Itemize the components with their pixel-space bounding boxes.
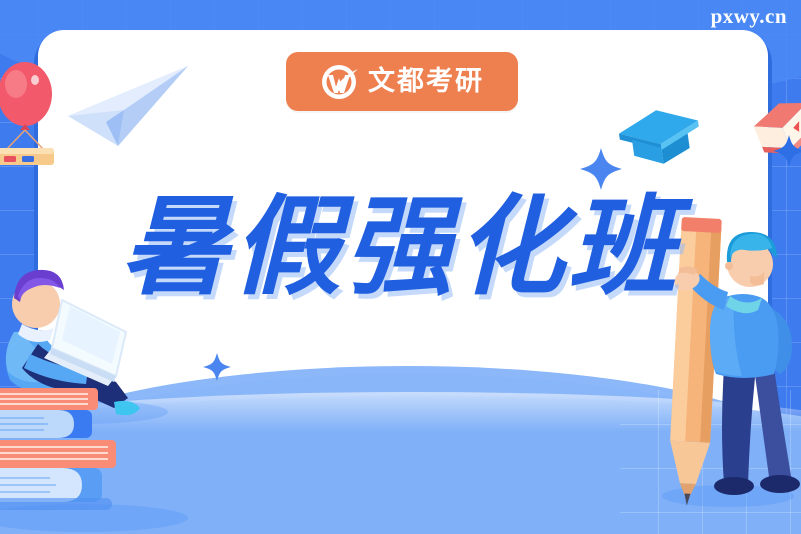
sparkle-large-icon <box>578 146 624 192</box>
wendu-swoosh-circle-icon <box>320 63 358 101</box>
site-watermark: pxwy.cn <box>711 4 787 29</box>
balloon-with-book-icon <box>0 58 60 170</box>
paper-airplane-icon <box>66 62 196 148</box>
brand-logo-badge[interactable]: 文都考研 <box>286 52 518 111</box>
banner-stage: 文都考研 暑假强化班 pxwy.cn <box>0 0 801 534</box>
sparkle-small-icon <box>202 352 232 382</box>
graduation-cap-icon <box>614 106 706 170</box>
student-with-pencil-illustration <box>650 218 801 518</box>
book-stack-illustration <box>0 386 184 534</box>
sparkle-edge-icon <box>772 134 801 168</box>
brand-logo-text: 文都考研 <box>368 68 484 95</box>
